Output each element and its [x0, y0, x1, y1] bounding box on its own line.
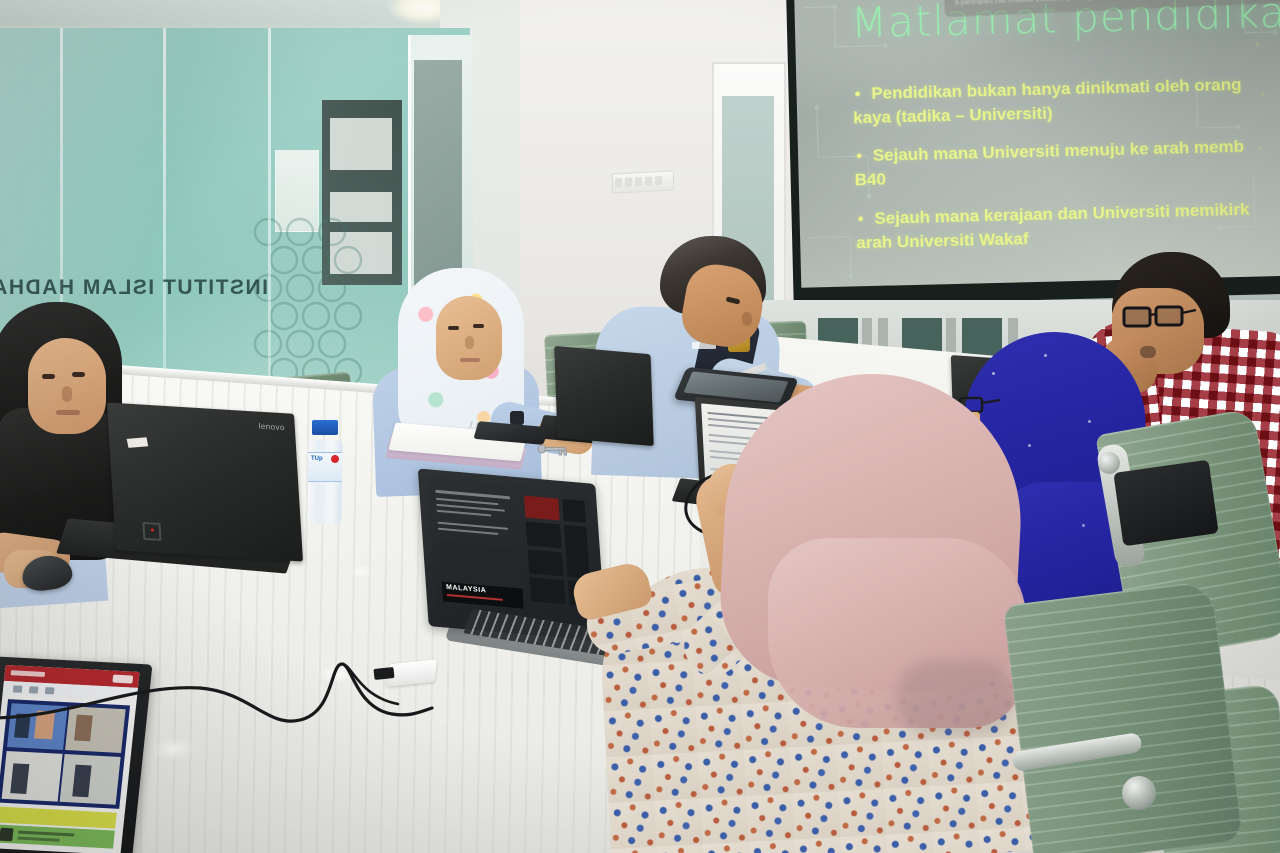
chair-foreground-right-2[interactable] — [1003, 580, 1243, 853]
person6-glasses-icon — [1122, 302, 1200, 334]
meeting-room-scene: INSTITUT ISLAM HADHARI — [0, 0, 1280, 853]
cc-message: A participant has enabled Closed Caption… — [954, 0, 1094, 6]
person2-eye-left — [448, 326, 459, 330]
chair-pivot-bolt-2 — [1122, 776, 1156, 810]
person1-eye-left — [42, 374, 55, 379]
light-switch-plate — [612, 170, 674, 193]
usb-connector — [373, 667, 394, 680]
bottle-cap — [312, 420, 338, 435]
macbook-screen: MALAYSIA — [426, 477, 597, 633]
person2-mouth — [460, 358, 480, 362]
person2-eye-right — [473, 324, 484, 328]
thinkpad-sticker — [127, 437, 149, 448]
bullet-item: Sejauh mana kerajaan dan Universiti memi… — [857, 194, 1280, 255]
glass-wall-signage: INSTITUT ISLAM HADHARI — [28, 276, 268, 300]
laptop-bag — [1113, 460, 1218, 547]
slide-bullet-list: Pendidikan bukan hanya dinikmati oleh or… — [840, 70, 1280, 269]
tablet-app-icon — [0, 828, 14, 842]
bottle-logo-dot — [331, 455, 339, 463]
keys-icon — [535, 440, 571, 462]
projected-slide: Matlamat pendidikan A participant has en… — [794, 0, 1280, 288]
person2-watch — [510, 411, 524, 425]
projection-screen-assembly: Matlamat pendidikan A participant has en… — [786, 0, 1280, 306]
person2-nose — [465, 336, 474, 349]
person1-mouth — [56, 410, 80, 415]
thinkpad-lid: lenovo — [107, 402, 303, 561]
person1-nose — [62, 386, 72, 402]
person1-eye-right — [72, 372, 85, 377]
bullet-item: Sejauh mana Universiti menuju ke arah me… — [856, 132, 1280, 193]
chair-pivot-bolt-1 — [1098, 452, 1120, 474]
person-icon: 👤 — [1100, 0, 1109, 1]
person4-hijab-shadow — [896, 660, 1016, 736]
person6-mustache — [1140, 346, 1156, 358]
person3-nose — [742, 312, 752, 326]
table-light-reflection-3 — [350, 566, 372, 577]
lenovo-logo: lenovo — [258, 422, 285, 433]
laptop3-lid — [554, 346, 654, 446]
bottle-label: TUp — [308, 452, 342, 482]
